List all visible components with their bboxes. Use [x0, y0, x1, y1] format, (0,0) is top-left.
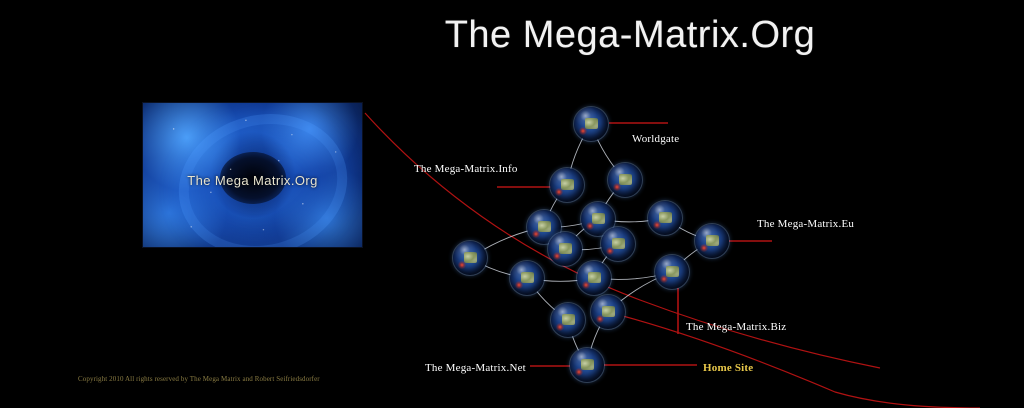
diagram-label-mega-matrix-info[interactable]: The Mega-Matrix.Info	[414, 163, 518, 175]
globe-landmass	[706, 235, 719, 246]
globe-sphere-icon[interactable]	[453, 241, 487, 275]
copyright-notice: Copyright 2010 All rights reserved by Th…	[78, 375, 320, 383]
globe-sphere-icon[interactable]	[695, 224, 729, 258]
globe-landmass	[585, 118, 598, 129]
globe-landmass	[592, 213, 605, 224]
globe-sphere-icon[interactable]	[577, 261, 611, 295]
globe-sphere-icon[interactable]	[591, 295, 625, 329]
globe-sphere-icon[interactable]	[570, 348, 604, 382]
globe-landmass	[619, 174, 632, 185]
page-title: The Mega-Matrix.Org	[0, 14, 1024, 57]
diagram-label-mega-matrix-biz[interactable]: The Mega-Matrix.Biz	[686, 321, 786, 333]
image-caption: The Mega Matrix.Org	[143, 173, 362, 188]
diagram-label-mega-matrix-net[interactable]: The Mega-Matrix.Net	[425, 362, 526, 374]
globe-sphere-icon[interactable]	[510, 261, 544, 295]
diagram-label-mega-matrix-eu[interactable]: The Mega-Matrix.Eu	[757, 218, 854, 230]
globe-landmass	[464, 252, 477, 263]
globe-landmass	[588, 272, 601, 283]
globe-landmass	[521, 272, 534, 283]
globe-sphere-icon[interactable]	[601, 227, 635, 261]
globe-landmass	[559, 243, 572, 254]
diagram-label-home-site[interactable]: Home Site	[703, 362, 753, 374]
globe-landmass	[538, 221, 551, 232]
globe-sphere-icon[interactable]	[648, 201, 682, 235]
globe-landmass	[612, 238, 625, 249]
globe-sphere-icon[interactable]	[655, 255, 689, 289]
lower-red-arc	[600, 310, 980, 408]
diagram-label-worldgate[interactable]: Worldgate	[632, 133, 679, 145]
globe-sphere-icon[interactable]	[608, 163, 642, 197]
page-title-text: The Mega-Matrix.Org	[445, 14, 816, 56]
globe-sphere-icon[interactable]	[550, 168, 584, 202]
globe-sphere-icon[interactable]	[574, 107, 608, 141]
globe-landmass	[581, 359, 594, 370]
network-edges	[470, 124, 712, 365]
globe-sphere-icon[interactable]	[548, 232, 582, 266]
globe-landmass	[666, 266, 679, 277]
slide-canvas: The Mega-Matrix.Org The Mega Matrix.Org …	[0, 0, 1024, 408]
globe-landmass	[562, 314, 575, 325]
globe-landmass	[602, 306, 615, 317]
cosmic-nebula-image: The Mega Matrix.Org	[143, 103, 362, 247]
globe-landmass	[561, 179, 574, 190]
globe-sphere-icon[interactable]	[551, 303, 585, 337]
globe-landmass	[659, 212, 672, 223]
